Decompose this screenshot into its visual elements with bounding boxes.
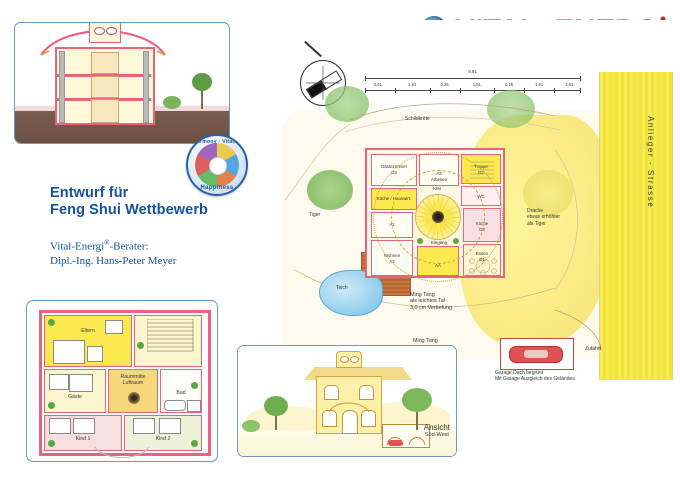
car-icon [509,346,563,363]
room-kind-2: Kind 2 [124,415,202,451]
section-room [91,76,119,98]
annotation-schildkroete: Schildkröte [405,116,430,122]
south-west-elevation-panel: Ansicht Süd-West [237,345,457,457]
dimension-segment: 1,61 [408,82,416,87]
tree-group-icon [487,90,535,128]
garage [500,338,574,370]
tree-group-icon [325,86,369,122]
annotation-ming-tang-tal: Ming Tang als leichtes Tal 3,0 cm Vertie… [410,292,452,311]
bush-icon [242,418,260,432]
caption-line-1: Ansicht [424,423,450,432]
badge-top-text: Harmony · Vitality [188,139,246,145]
dimension-segment: 0,25 [440,82,448,87]
advisor-brand: Vital-Energi [50,241,104,253]
section-room [91,99,119,123]
tree-icon [262,394,290,430]
elevation-caption: Ansicht Süd-West [424,423,450,438]
room-treppe [134,315,202,367]
dimension-segment: 2,61 [374,82,382,87]
annotation-ming-tang: Ming Tang [413,338,438,344]
tiger-hill [307,170,353,210]
tree-icon [191,69,213,109]
anlieger-strasse [599,72,673,380]
room-bad: Bad [160,369,202,413]
room-eltern: Eltern [44,315,132,367]
floor-plan-outline: Eltern Gäste [39,310,211,456]
section-column [59,51,65,123]
feng-shui-site-plan: 9,91 2,61 1,61 0,25 1,61 0,25 1,61 1,61 … [255,20,673,380]
house-footprint: Gästezimmer D3 A3 Arbeiten Treppe D2 Küc… [365,148,505,278]
room-label: Raummitte Luftraum [109,374,157,386]
room-label: Bad [161,390,201,396]
room-label: Kind 1 [45,436,121,442]
dimension-total: 9,91 [468,69,477,74]
dimension-segment: 1,61 [473,82,481,87]
section-room [91,52,119,74]
bush-icon [163,93,181,109]
annotation-drache: Drache etwas erhöhter als Tiger [527,208,560,227]
annotation-zufahrt: Zufahrt [585,346,601,352]
room-label: Gäste [45,394,105,400]
bagua-outer-ring [373,152,503,282]
upper-floor-plan-panel: Eltern Gäste [26,300,218,462]
dimension-segment: 1,61 [535,82,543,87]
dimension-segment: 0,25 [505,82,513,87]
elevation-cupola [336,351,362,368]
section-column [143,51,149,123]
annotation-teich: Teich [336,285,348,291]
badge-center [209,157,227,175]
room-gaeste: Gäste [44,369,106,413]
annotation-garage: Garage Dach begrünt Mit Garage Ausgleich… [495,370,575,383]
room-raummitte: Raummitte Luftraum [108,369,158,413]
poster-canvas: VITAL~ENERGi Consulting GmbH [0,0,680,487]
dimension-segment: 1,61 [565,82,573,87]
annotation-tiger: Tiger [309,212,320,218]
building-cross-section-panel [14,22,230,144]
road-label: Anlieger - Strasse [646,116,655,208]
advisor-suffix: -Berater: [109,241,148,253]
caption-line-2: Süd-West [424,432,450,438]
room-label: Kind 2 [125,436,201,442]
room-kind-1: Kind 1 [44,415,122,451]
section-cupola [89,22,121,43]
